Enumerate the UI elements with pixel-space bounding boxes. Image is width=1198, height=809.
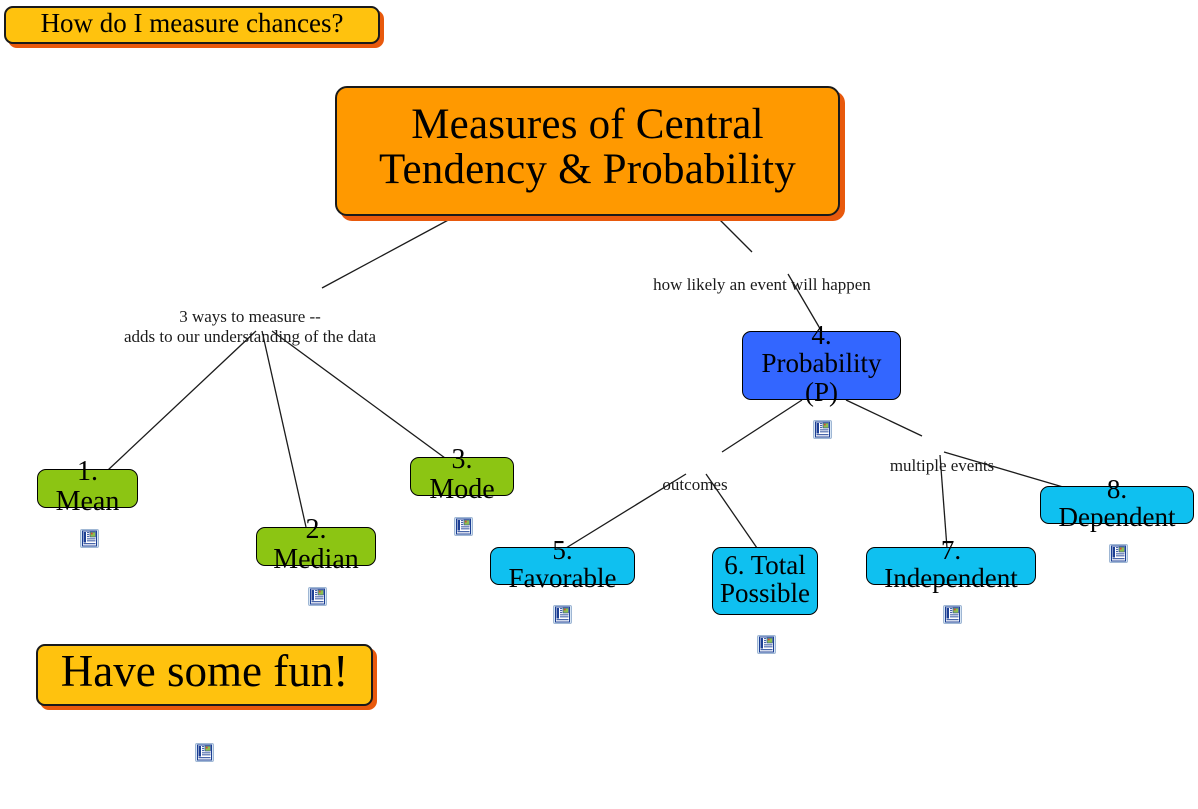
node-mode[interactable]: 3. Mode xyxy=(410,457,514,496)
footer-banner[interactable]: Have some fun! xyxy=(36,644,373,706)
edge-root-to-left-branch xyxy=(322,218,452,288)
question-banner[interactable]: How do I measure chances? xyxy=(4,6,380,44)
node-favorable[interactable]: 5. Favorable xyxy=(490,547,635,585)
edge-left-branch-to-median xyxy=(262,331,306,527)
question-banner-label: How do I measure chances? xyxy=(41,9,344,37)
annotation-outcomes: outcomes xyxy=(645,454,745,495)
annotation-right-branch-label: how likely an event will happen xyxy=(653,275,871,294)
node-independent[interactable]: 7. Independent xyxy=(866,547,1036,585)
note-document-icon[interactable] xyxy=(454,488,473,507)
node-probability[interactable]: 4. Probability (P) xyxy=(742,331,901,400)
note-document-icon[interactable] xyxy=(308,558,327,577)
edge-left-branch-to-mode xyxy=(272,331,445,458)
node-median[interactable]: 2. Median xyxy=(256,527,376,566)
edge-left-branch-to-mean xyxy=(108,331,256,470)
node-mean[interactable]: 1. Mean xyxy=(37,469,138,508)
concept-map-canvas: How do I measure chances? Measures of Ce… xyxy=(0,0,1198,714)
note-document-icon[interactable] xyxy=(195,696,214,715)
annotation-multiple-events-label: multiple events xyxy=(890,456,994,475)
root-node-label: Measures of Central Tendency & Probabili… xyxy=(379,103,796,192)
annotation-multiple-events: multiple events xyxy=(876,435,1008,476)
root-node-title[interactable]: Measures of Central Tendency & Probabili… xyxy=(335,86,840,216)
node-dependent[interactable]: 8. Dependent xyxy=(1040,486,1194,524)
footer-banner-label: Have some fun! xyxy=(61,648,348,695)
node-total-possible[interactable]: 6. Total Possible xyxy=(712,547,818,615)
edge-root-to-right-branch xyxy=(718,218,752,252)
annotation-right-branch: how likely an event will happen xyxy=(637,254,887,295)
note-document-icon[interactable] xyxy=(757,607,776,626)
annotation-outcomes-label: outcomes xyxy=(662,475,727,494)
note-document-icon[interactable] xyxy=(80,500,99,519)
note-document-icon[interactable] xyxy=(553,577,572,596)
annotation-left-branch: 3 ways to measure -- adds to our underst… xyxy=(100,286,400,348)
node-total-possible-label: 6. Total Possible xyxy=(720,551,810,607)
annotation-left-branch-label: 3 ways to measure -- adds to our underst… xyxy=(124,307,376,347)
note-document-icon[interactable] xyxy=(1109,516,1128,535)
note-document-icon[interactable] xyxy=(813,392,832,411)
note-document-icon[interactable] xyxy=(943,577,962,596)
edge-probability-to-outcomes xyxy=(722,400,802,452)
